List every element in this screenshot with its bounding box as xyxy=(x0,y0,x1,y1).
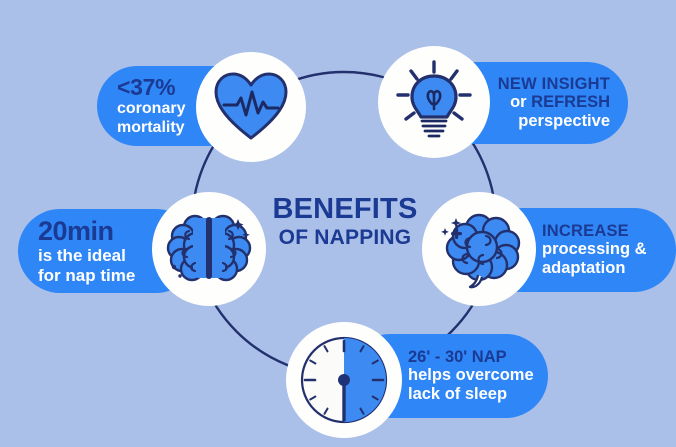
pill-line2-emphasis: REFRESH xyxy=(531,93,610,111)
infographic-canvas: <37% coronary mortality NEW INSIGHT or R… xyxy=(0,0,676,447)
pill-line3: mortality xyxy=(117,119,210,138)
node-brain-top xyxy=(152,192,266,306)
pill-line3: for nap time xyxy=(38,266,142,286)
clock-icon xyxy=(298,334,390,426)
pill-heading: NEW INSIGHT xyxy=(498,75,610,93)
pill-line2: is the ideal xyxy=(38,246,142,266)
node-lightbulb xyxy=(378,46,490,158)
pill-heading: INCREASE xyxy=(542,222,662,240)
pill-line3: perspective xyxy=(518,112,610,131)
page-title: BENEFITS OF NAPPING xyxy=(250,192,440,254)
brain-top-view-icon xyxy=(165,205,253,293)
heart-pulse-icon xyxy=(214,72,288,142)
node-heart xyxy=(196,52,306,162)
node-clock xyxy=(286,322,402,438)
lightbulb-icon xyxy=(391,59,477,145)
pill-heading: 26' - 30' NAP xyxy=(408,348,534,366)
pill-heading: 20min xyxy=(38,216,142,246)
pill-line3: lack of sleep xyxy=(408,385,534,404)
pill-line2: or REFRESH xyxy=(510,93,610,112)
pill-line2-prefix: or xyxy=(510,93,531,111)
pill-line2: processing & xyxy=(542,240,662,259)
title-line-1: BENEFITS xyxy=(273,195,418,224)
title-line-2: OF NAPPING xyxy=(279,226,412,250)
brain-side-view-icon xyxy=(434,205,524,293)
pill-line3: adaptation xyxy=(542,259,662,278)
pill-line2: helps overcome xyxy=(408,366,534,385)
